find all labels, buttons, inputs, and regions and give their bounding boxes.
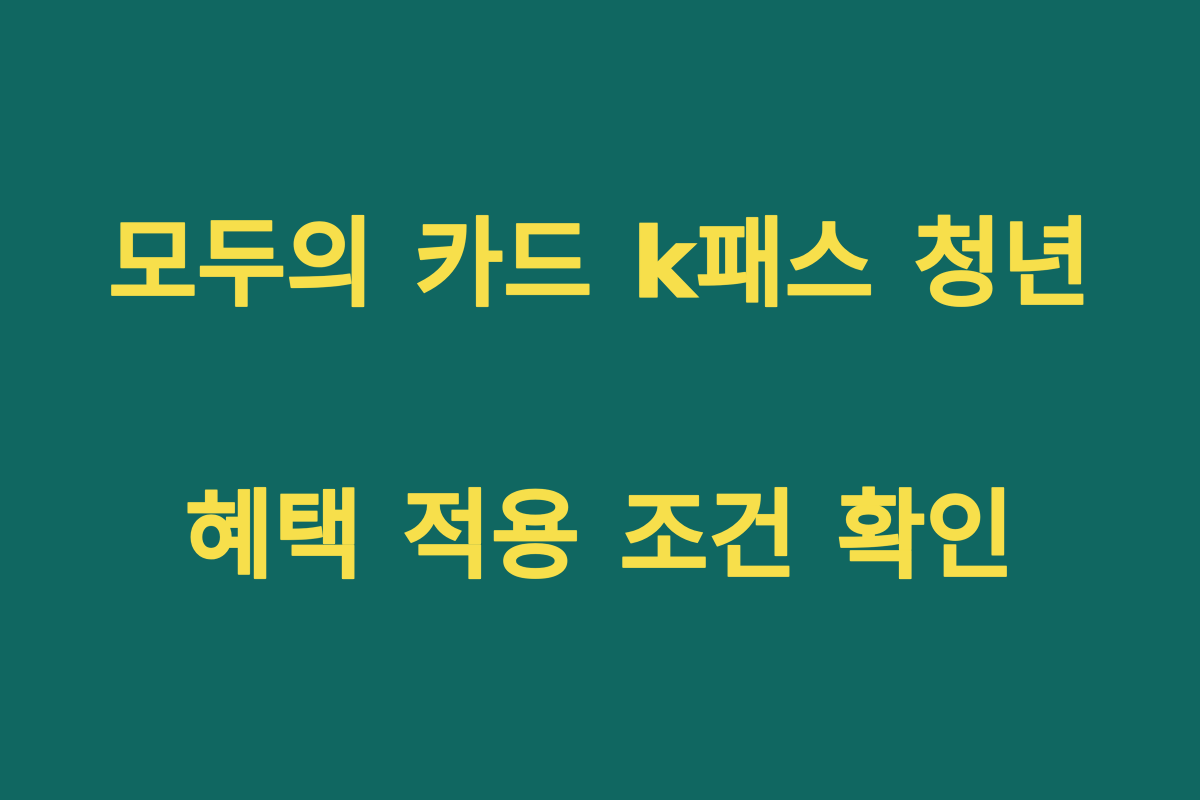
- banner-canvas: 모두의 카드 k패스 청년 혜택 적용 조건 확인: [0, 0, 1200, 800]
- page-title: 모두의 카드 k패스 청년 혜택 적용 조건 확인: [0, 59, 1200, 741]
- headline-line-2: 혜택 적용 조건 확인: [40, 468, 1160, 604]
- headline-line-1: 모두의 카드 k패스 청년: [40, 196, 1160, 332]
